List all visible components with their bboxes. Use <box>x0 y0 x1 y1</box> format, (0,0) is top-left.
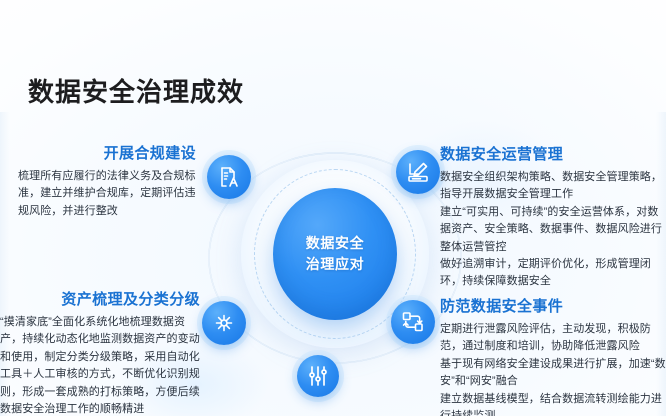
assets-body-text: “摸清家底”全面化系统化地梳理数据资产，持续化动态化地监测数据资产的变动和使用，… <box>0 314 206 416</box>
node-incident[interactable] <box>391 300 435 344</box>
compliance-heading: 开展合规建设 <box>18 145 204 163</box>
slide-canvas: 数据安全治理成效 数据安全 治理应对 <box>0 0 666 416</box>
document-check-icon <box>217 165 241 189</box>
node-compliance[interactable] <box>207 155 251 199</box>
block-operations: 数据安全运营管理 数据安全组织架构策略、数据安全管理策略，指导开展数据安全管理工… <box>440 146 666 291</box>
hub-label-line1: 数据安全 <box>306 235 364 253</box>
incident-heading: 防范数据安全事件 <box>440 298 666 316</box>
operations-paragraph: 数据安全组织架构策略、数据安全管理策略，指导开展数据安全管理工作 <box>440 169 666 204</box>
incident-paragraph: 定期进行泄露风险评估，主动发现，积极防范，通过制度和培训，协助降低泄露风险 <box>440 321 666 356</box>
incident-paragraph: 建立数据基线模型，结合数据流转测绘能力进行持续监测 <box>440 391 666 416</box>
node-assets[interactable] <box>202 301 246 345</box>
compliance-body: 梳理所有应履行的法律义务及合规标准，建立并维护合规库，定期评估违规风险，并进行整… <box>18 168 204 220</box>
hub-label-line2: 治理应对 <box>306 256 364 274</box>
hub-core-circle: 数据安全 治理应对 <box>273 188 397 320</box>
node-operations[interactable] <box>396 150 440 194</box>
assets-heading: 资产梳理及分类分级 <box>0 291 206 309</box>
operations-heading: 数据安全运营管理 <box>440 146 666 164</box>
sliders-icon <box>306 364 330 388</box>
page-title: 数据安全治理成效 <box>28 72 244 109</box>
block-assets: 资产梳理及分类分级 “摸清家底”全面化系统化地梳理数据资产，持续化动态化地监测数… <box>0 291 206 416</box>
incident-paragraph: 基于现有网络安全建设成果进行扩展，加速“数安”和“网安”融合 <box>440 356 666 391</box>
operations-paragraph: 建立“可实用、可持续”的安全运营体系，对数据资产、安全策略、数据事件、数据风险进… <box>440 204 666 256</box>
data-node-icon <box>212 311 236 335</box>
flow-process-icon <box>401 310 425 334</box>
compliance-body-text: 梳理所有应履行的法律义务及合规标准，建立并维护合规库，定期评估违规风险，并进行整… <box>18 168 204 220</box>
operations-body: 数据安全组织架构策略、数据安全管理策略，指导开展数据安全管理工作 建立“可实用、… <box>440 169 666 291</box>
block-incident: 防范数据安全事件 定期进行泄露风险评估，主动发现，积极防范，通过制度和培训，协助… <box>440 298 666 416</box>
block-compliance: 开展合规建设 梳理所有应履行的法律义务及合规标准，建立并维护合规库，定期评估违规… <box>18 145 204 220</box>
incident-body: 定期进行泄露风险评估，主动发现，积极防范，通过制度和培训，协助降低泄露风险 基于… <box>440 321 666 416</box>
pen-device-icon <box>406 160 430 184</box>
assets-body: “摸清家底”全面化系统化地梳理数据资产，持续化动态化地监测数据资产的变动和使用，… <box>0 314 206 416</box>
node-controls[interactable] <box>297 355 339 397</box>
operations-paragraph: 做好追溯审计，定期评价优化，形成管理闭环，持续保障数据安全 <box>440 256 666 291</box>
